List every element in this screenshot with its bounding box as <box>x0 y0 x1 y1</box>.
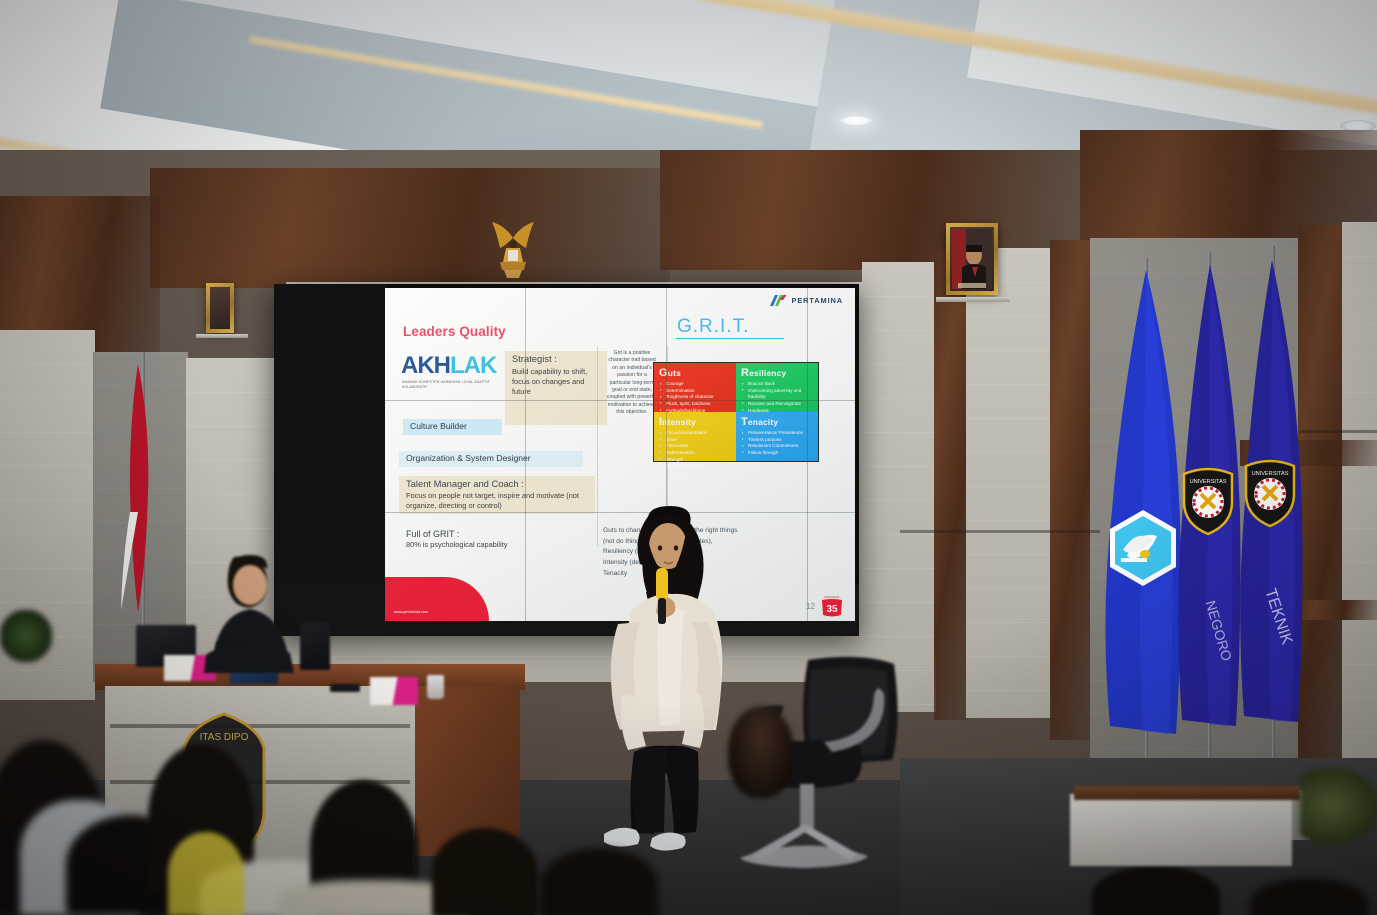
slide-item-full-of-grit: Full of GRIT : 80% is psychological capa… <box>399 526 563 553</box>
list-item: Resolution/ Commitment <box>748 443 813 450</box>
culture-builder-label: Culture Builder <box>410 421 467 431</box>
wood-trim-upper <box>150 168 670 288</box>
slide-title: Leaders Quality <box>403 324 506 339</box>
white-pedestal <box>1070 794 1292 866</box>
list-item: Follow through <box>748 450 813 457</box>
potted-plant-right <box>1300 768 1377 844</box>
resiliency-rest: esiliency <box>749 368 786 378</box>
list-item: Tireless purpose <box>748 437 813 444</box>
wood-bench-right <box>1074 786 1300 800</box>
pertamina-logo: PERTAMINA <box>768 294 843 307</box>
yellow-microphone <box>656 568 668 600</box>
pertamina-url: www.pertamina.com <box>394 610 428 614</box>
wood-column-right-1 <box>934 250 968 720</box>
official-portrait-right <box>946 223 998 295</box>
ceiling-downlight <box>838 115 874 126</box>
list-item: Determination <box>666 450 731 457</box>
akhlak-logo: AKHLAK <box>401 354 496 378</box>
grit-heading: G.R.I.T. <box>677 316 749 338</box>
list-item: Drive <box>666 437 731 444</box>
presentation-photo: PERTAMINA Leaders Quality AKHLAK AMANAH … <box>0 0 1377 915</box>
pertamina-wordmark: PERTAMINA <box>792 296 843 305</box>
grit-quadrant-resiliency: Resiliency Bounce Back Overcoming advers… <box>736 363 818 412</box>
wall-stone-panel-far-right <box>1342 222 1377 782</box>
audience-head <box>728 706 794 798</box>
slide-item-culture-builder: Culture Builder <box>403 419 502 435</box>
audience-head <box>432 828 538 915</box>
grit-matrix: Guts Courage Determination Toughness of … <box>653 362 819 462</box>
screen-bezel-left <box>274 284 386 584</box>
list-item: Focus/concentration <box>666 430 731 437</box>
smartphone[interactable] <box>330 684 360 692</box>
svg-text:UNIVERSITAS: UNIVERSITAS <box>1190 479 1227 485</box>
plastic-cup <box>427 675 444 699</box>
led-tile-seam <box>525 288 526 621</box>
grit-quadrant-tenacity: Tenacity Perseverance/ Persistence Tirel… <box>736 412 818 461</box>
official-portrait-left <box>206 283 234 333</box>
intensity-rest: ntensity <box>662 417 696 427</box>
wall-stone-panel-right-1 <box>862 262 936 712</box>
list-item: Overcoming adversity and hardship <box>748 388 813 401</box>
list-item: Fierceness <box>666 443 731 450</box>
akhlak-subtitle: AMANAH KOMPETEN HARMONIS LOYAL ADAPTIF K… <box>402 380 497 390</box>
wall-seam <box>900 530 1100 533</box>
grit-heading-underline <box>676 338 784 339</box>
white-sneaker <box>650 832 686 850</box>
talent-manager-heading: Talent Manager and Coach : <box>406 479 588 490</box>
wood-column-right-2 <box>1050 240 1092 740</box>
list-item: Ardency/passion <box>666 463 731 470</box>
slide-item-strategist: Strategist : Build capability to shift, … <box>505 351 607 425</box>
grit-definition: Grit is a positive character trait based… <box>607 350 657 416</box>
list-item: Courage <box>666 381 731 388</box>
list-item: Perseverance/ Persistence <box>748 430 813 437</box>
list-item: Bounce Back <box>748 381 813 388</box>
wall-stone-panel-right-2 <box>966 248 1052 718</box>
garuda-pancasila-emblem <box>470 218 556 288</box>
full-grit-body: 80% is psychological capability <box>406 540 556 550</box>
talent-manager-body: Focus on people not target, inspire and … <box>406 491 588 511</box>
svg-text:UNIVERSITAS: UNIVERSITAS <box>1252 471 1289 477</box>
wall-shelf-left <box>196 334 248 338</box>
list-item: Recover and Reinvigorate <box>748 401 813 408</box>
svg-text:PERTAMINA: PERTAMINA <box>825 595 840 599</box>
moderator-chair <box>300 622 330 670</box>
guts-rest: uts <box>668 368 681 378</box>
list-item: Pluck, spirit, boldness <box>666 401 731 408</box>
universitas-diponegoro-flag-2: UNIVERSITAS TEKNIK <box>1230 258 1316 733</box>
tenacity-rest: enacity <box>748 417 778 427</box>
white-sneaker <box>604 828 640 847</box>
audience-head <box>540 848 658 915</box>
tenacity-initial: T <box>741 416 748 428</box>
svg-text:ITAS DIPO: ITAS DIPO <box>200 732 249 743</box>
svg-text:35: 35 <box>826 604 838 615</box>
slide-item-org-system-designer: Organization & System Designer <box>399 451 583 467</box>
audience-head <box>168 832 244 915</box>
org-designer-label: Organization & System Designer <box>406 453 531 463</box>
pertamina-red-swoosh: www.pertamina.com <box>385 577 489 621</box>
resiliency-initial: R <box>741 367 749 379</box>
led-tile-seam <box>807 288 808 621</box>
slide-item-talent-manager: Talent Manager and Coach : Focus on peop… <box>399 476 595 514</box>
anniversary-badge: PERTAMINA 35 <box>819 593 845 617</box>
full-grit-heading: Full of GRIT : <box>406 529 556 539</box>
list-item: Strength <box>666 457 731 464</box>
potted-plant-left <box>0 610 52 662</box>
list-item: Determination <box>666 388 731 395</box>
wall-shelf-right <box>936 297 1010 302</box>
pink-gift-box <box>370 677 418 705</box>
akhlak-part-1: AKH <box>401 352 450 379</box>
akhlak-part-2: LAK <box>450 352 496 379</box>
led-tile-seam <box>385 400 855 401</box>
led-video-wall: PERTAMINA Leaders Quality AKHLAK AMANAH … <box>274 284 859 636</box>
indonesian-flag <box>112 362 156 624</box>
